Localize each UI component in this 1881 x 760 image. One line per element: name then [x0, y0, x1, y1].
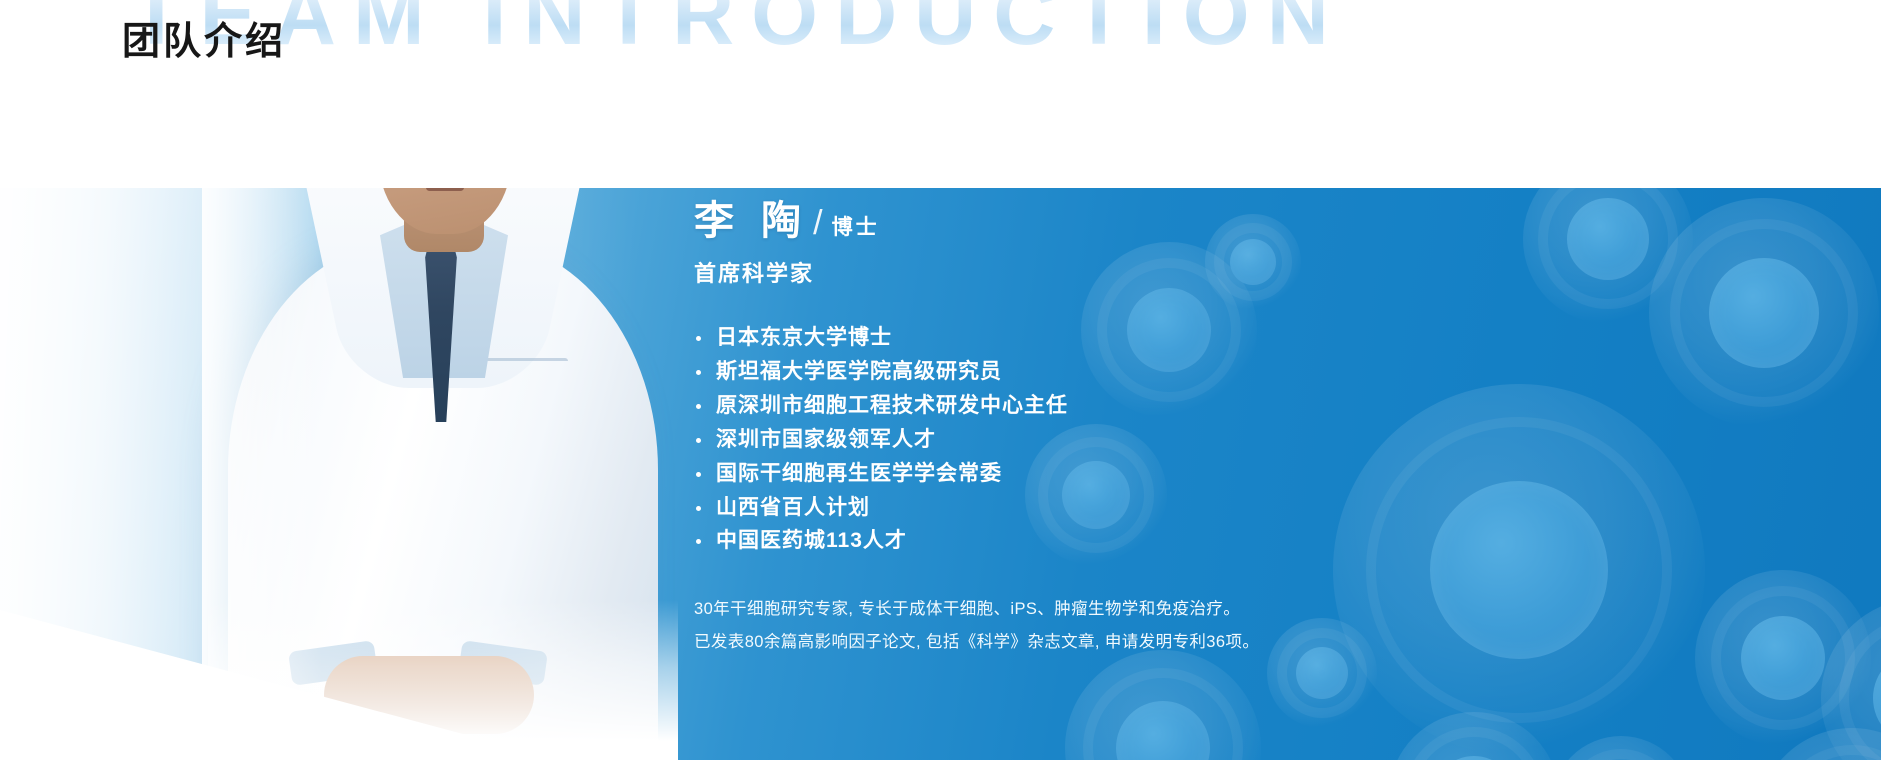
list-item: 斯坦福大学医学院高级研究员 — [694, 356, 1454, 388]
description-line: 已发表80余篇高影响因子论文, 包括《科学》杂志文章, 申请发明专利36项。 — [694, 626, 1454, 658]
list-item: 日本东京大学博士 — [694, 322, 1454, 354]
name-row: 李 陶 / 博士 — [694, 198, 1454, 244]
person-degree: 博士 — [832, 211, 880, 241]
page-title: 团队介绍 — [122, 20, 286, 66]
ghost-title-text: TEAM INTRODUCTION — [130, 0, 1346, 58]
profile-description: 30年干细胞研究专家, 专长于成体干细胞、iPS、肿瘤生物学和免疫治疗。 已发表… — [694, 593, 1454, 657]
list-item: 国际干细胞再生医学学会常委 — [694, 458, 1454, 490]
description-line: 30年干细胞研究专家, 专长于成体干细胞、iPS、肿瘤生物学和免疫治疗。 — [694, 593, 1454, 625]
credentials-list: 日本东京大学博士 斯坦福大学医学院高级研究员 原深圳市细胞工程技术研发中心主任 … — [694, 322, 1454, 557]
list-item: 中国医药城113人才 — [694, 525, 1454, 557]
profile-content: 李 陶 / 博士 首席科学家 日本东京大学博士 斯坦福大学医学院高级研究员 原深… — [694, 188, 1454, 760]
name-separator: / — [813, 204, 822, 243]
list-item: 山西省百人计划 — [694, 492, 1454, 524]
team-introduction-banner: TEAM INTRODUCTION 团队介绍 李 陶 / 博士 首席科 — [0, 0, 1881, 760]
person-name: 李 陶 — [694, 198, 809, 244]
person-role: 首席科学家 — [694, 256, 1454, 288]
list-item: 原深圳市细胞工程技术研发中心主任 — [694, 390, 1454, 422]
list-item: 深圳市国家级领军人才 — [694, 424, 1454, 456]
header-band: TEAM INTRODUCTION 团队介绍 — [0, 0, 1881, 188]
